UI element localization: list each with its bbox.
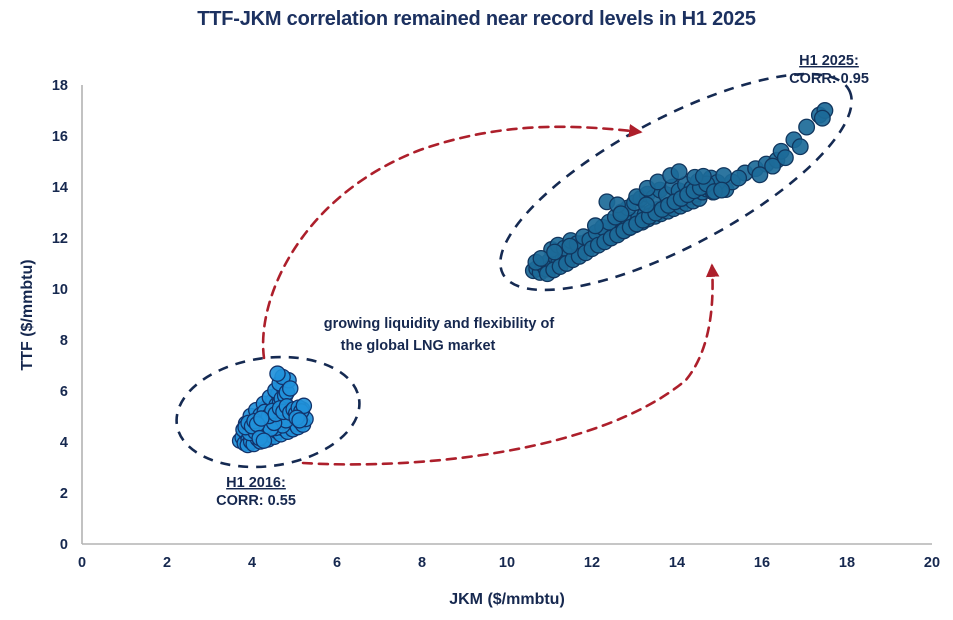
- y-tick-14: 14: [52, 180, 68, 196]
- x-axis-tick-labels: 02468101214161820: [78, 555, 940, 571]
- y-tick-16: 16: [52, 129, 68, 145]
- data-point: [815, 110, 831, 126]
- data-point: [799, 119, 815, 135]
- data-point: [696, 168, 712, 184]
- x-tick-0: 0: [78, 555, 86, 571]
- data-point: [731, 170, 747, 186]
- data-point: [270, 366, 285, 381]
- data-point: [716, 168, 732, 184]
- scatter-plot: 024681012141618 02468101214161820 TTF ($…: [0, 0, 953, 620]
- data-point: [588, 218, 604, 234]
- data-point: [256, 433, 271, 448]
- data-point: [292, 413, 307, 428]
- data-point: [283, 381, 298, 396]
- x-tick-12: 12: [584, 555, 600, 571]
- x-tick-4: 4: [248, 555, 256, 571]
- y-tick-12: 12: [52, 231, 68, 247]
- h1-2016-callout: H1 2016: CORR: 0.55: [216, 475, 296, 509]
- data-point: [778, 150, 794, 166]
- x-tick-20: 20: [924, 555, 940, 571]
- y-tick-10: 10: [52, 282, 68, 298]
- y-tick-8: 8: [60, 333, 68, 349]
- x-tick-16: 16: [754, 555, 770, 571]
- chart-root: TTF-JKM correlation remained near record…: [0, 0, 953, 620]
- data-point: [562, 238, 578, 254]
- svg-text:CORR: 0.95: CORR: 0.95: [789, 71, 869, 87]
- x-tick-10: 10: [499, 555, 515, 571]
- x-tick-18: 18: [839, 555, 855, 571]
- data-point: [613, 206, 629, 222]
- arrow-lower: [303, 266, 713, 464]
- x-tick-8: 8: [418, 555, 426, 571]
- svg-text:H1 2016:: H1 2016:: [226, 475, 286, 491]
- svg-text:H1 2025:: H1 2025:: [799, 53, 859, 69]
- transition-arrows: [263, 127, 712, 465]
- y-axis-title: TTF ($/mmbtu): [19, 259, 36, 370]
- y-tick-2: 2: [60, 486, 68, 502]
- x-tick-6: 6: [333, 555, 341, 571]
- data-point: [714, 182, 730, 198]
- y-tick-6: 6: [60, 384, 68, 400]
- series-h1-2025-points: [526, 103, 833, 282]
- series-h1-2016-points: [233, 366, 314, 453]
- svg-text:CORR: 0.55: CORR: 0.55: [216, 493, 296, 509]
- data-point: [547, 244, 563, 260]
- svg-text:growing liquidity and flexibi: growing liquidity and flexibility of: [324, 316, 555, 332]
- y-tick-0: 0: [60, 537, 68, 553]
- data-point: [254, 411, 269, 426]
- data-point: [792, 139, 808, 155]
- driver-note: growing liquidity and flexibility of the…: [324, 316, 555, 354]
- x-axis-title: JKM ($/mmbtu): [449, 591, 565, 608]
- svg-text:the global LNG market: the global LNG market: [341, 338, 496, 354]
- x-tick-14: 14: [669, 555, 685, 571]
- h1-2025-callout: H1 2025: CORR: 0.95: [789, 53, 869, 87]
- data-point: [671, 164, 687, 180]
- y-tick-4: 4: [60, 435, 68, 451]
- y-axis-tick-labels: 024681012141618: [52, 78, 68, 553]
- data-point: [639, 197, 655, 213]
- y-tick-18: 18: [52, 78, 68, 94]
- x-tick-2: 2: [163, 555, 171, 571]
